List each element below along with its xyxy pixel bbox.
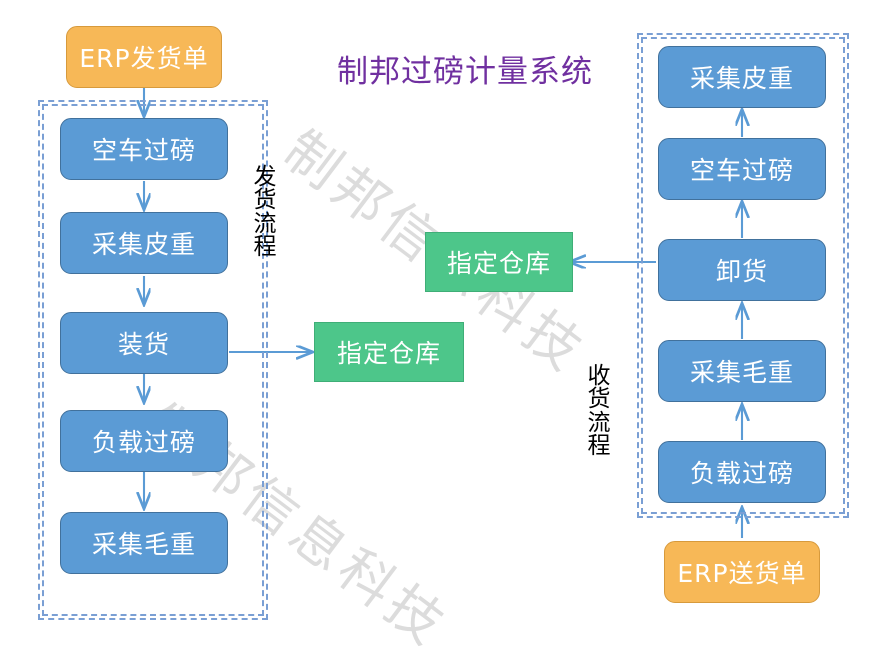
- node-label: 装货: [118, 325, 170, 361]
- node-receiving-step-2[interactable]: 采集毛重: [658, 340, 826, 402]
- node-label: ERP发货单: [79, 39, 208, 75]
- node-label: ERP送货单: [677, 554, 806, 590]
- node-receiving-step-1[interactable]: 负载过磅: [658, 441, 826, 503]
- node-receiving-step-3[interactable]: 卸货: [658, 239, 826, 301]
- node-receiving-step-5[interactable]: 采集皮重: [658, 46, 826, 108]
- node-label: 卸货: [716, 252, 768, 288]
- node-label: 负载过磅: [690, 454, 794, 490]
- node-receiving-step-4[interactable]: 空车过磅: [658, 138, 826, 200]
- node-shipping-step-5[interactable]: 采集毛重: [60, 512, 228, 574]
- diagram-canvas: 制邦信息科技 制邦信息科技 发货流程: [0, 0, 870, 637]
- node-label: 采集毛重: [690, 353, 794, 389]
- node-label: 采集皮重: [92, 225, 196, 261]
- node-warehouse-shipping[interactable]: 指定仓库: [314, 322, 464, 382]
- node-label: 负载过磅: [92, 423, 196, 459]
- node-shipping-step-1[interactable]: 空车过磅: [60, 118, 228, 180]
- node-shipping-step-3[interactable]: 装货: [60, 312, 228, 374]
- node-label: 指定仓库: [337, 334, 441, 370]
- node-shipping-step-4[interactable]: 负载过磅: [60, 410, 228, 472]
- node-label: 采集皮重: [690, 59, 794, 95]
- page-title: 制邦过磅计量系统: [337, 46, 593, 91]
- node-warehouse-receiving[interactable]: 指定仓库: [425, 232, 573, 292]
- node-label: 指定仓库: [447, 244, 551, 280]
- receiving-flow-group-label: 收货流程: [586, 365, 612, 459]
- node-erp-shipping-order[interactable]: ERP发货单: [66, 26, 222, 88]
- node-label: 采集毛重: [92, 525, 196, 561]
- node-shipping-step-2[interactable]: 采集皮重: [60, 212, 228, 274]
- node-label: 空车过磅: [690, 151, 794, 187]
- shipping-flow-group-label: 发货流程: [252, 166, 278, 260]
- node-label: 空车过磅: [92, 131, 196, 167]
- node-erp-delivery-order[interactable]: ERP送货单: [664, 541, 820, 603]
